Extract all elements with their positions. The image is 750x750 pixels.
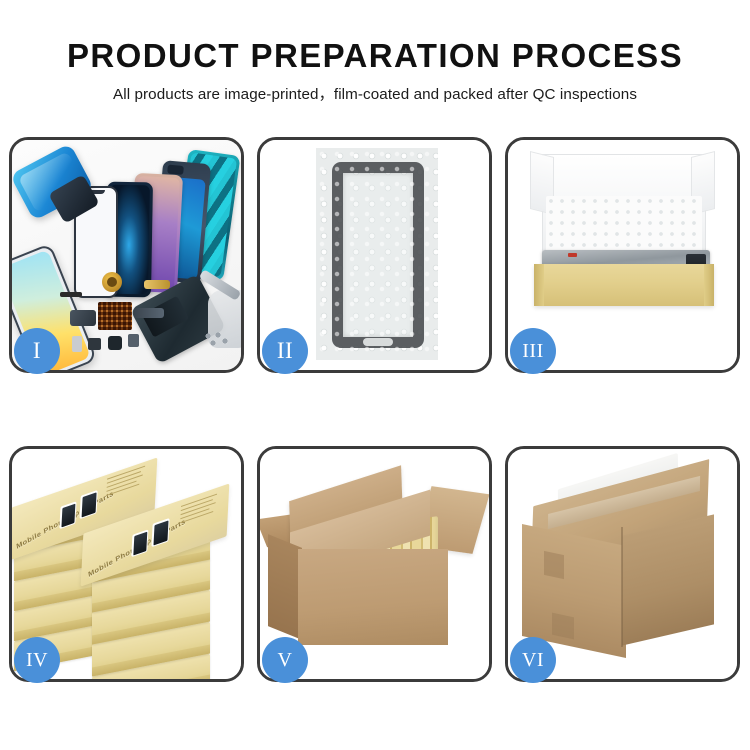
- part-connector-grid-icon: [98, 302, 132, 330]
- bubble-wrap-sheet: [316, 148, 438, 360]
- page-title: PRODUCT PREPARATION PROCESS: [0, 36, 750, 76]
- carton-mark-top: [544, 551, 564, 579]
- step-badge-1: I: [14, 328, 60, 374]
- step-badge-6: VI: [510, 637, 556, 683]
- carton-side-panel: [268, 534, 302, 640]
- part-flex-cable-icon: [144, 280, 170, 289]
- part-speaker-icon: [102, 272, 122, 292]
- product-preparation-process-page: PRODUCT PREPARATION PROCESS All products…: [0, 0, 750, 750]
- step-badge-4: IV: [14, 637, 60, 683]
- part-small-4-icon: [128, 334, 139, 347]
- carton-front-panel: [298, 549, 448, 645]
- part-small-1-icon: [72, 336, 82, 352]
- part-bar-icon: [60, 292, 82, 297]
- process-steps-grid: I II III: [9, 137, 741, 682]
- page-subtitle: All products are image-printed，film-coat…: [0, 85, 750, 105]
- step-panel-5: V: [257, 446, 492, 682]
- step-panel-6: VI: [505, 446, 740, 682]
- step-badge-5: V: [262, 637, 308, 683]
- screws-icon: [204, 332, 230, 346]
- step-panel-1: I: [9, 137, 244, 373]
- sealed-carton-edge: [621, 527, 623, 647]
- step-panel-3: III: [505, 137, 740, 373]
- kraft-box-front: [534, 264, 714, 306]
- step-badge-3: III: [510, 328, 556, 374]
- step-panel-4: Mobile Phone Spare Parts Mo: [9, 446, 244, 682]
- part-small-3-icon: [108, 336, 122, 350]
- step-badge-2: II: [262, 328, 308, 374]
- part-flex-1-icon: [70, 310, 96, 326]
- step-panel-2: II: [257, 137, 492, 373]
- part-flex-2-icon: [134, 308, 164, 318]
- sealed-carton-right: [622, 514, 714, 645]
- page-header: PRODUCT PREPARATION PROCESS All products…: [0, 36, 750, 105]
- part-small-2-icon: [88, 338, 101, 350]
- carton-mark-bottom: [552, 613, 574, 640]
- wrapped-screen-icon: [332, 162, 424, 348]
